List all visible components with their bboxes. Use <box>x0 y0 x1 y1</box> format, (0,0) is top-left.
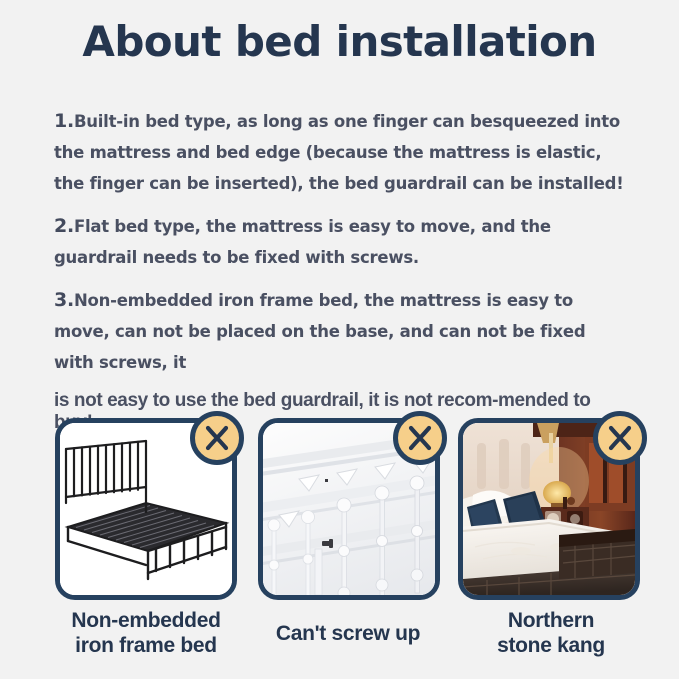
paragraph-2-text: Flat bed type, the mattress is easy to m… <box>54 217 551 267</box>
paragraph-1-text: Built-in bed type, as long as one finger… <box>54 112 624 193</box>
body-text-block: 1.Built-in bed type, as long as one fing… <box>54 106 630 434</box>
paragraph-3: 3.Non-embedded iron frame bed, the mattr… <box>54 285 630 378</box>
paragraph-3-number: 3. <box>54 289 74 311</box>
paragraph-3-text: Non-embedded iron frame bed, the mattres… <box>54 291 585 372</box>
page-title: About bed installation <box>0 18 679 65</box>
x-mark-glyph <box>398 416 442 460</box>
infographic-page: About bed installation 1.Built-in bed ty… <box>0 0 679 679</box>
caption-1-line-2: iron frame bed <box>41 633 251 658</box>
x-mark-icon <box>393 411 447 465</box>
x-mark-icon <box>593 411 647 465</box>
card-row <box>0 418 679 608</box>
x-mark-glyph <box>195 416 239 460</box>
card-cant-screw-up[interactable] <box>258 418 440 600</box>
paragraph-1: 1.Built-in bed type, as long as one fing… <box>54 106 630 199</box>
paragraph-2: 2.Flat bed type, the mattress is easy to… <box>54 211 630 273</box>
caption-non-embedded-iron-frame-bed: Non-embedded iron frame bed <box>41 608 251 658</box>
caption-cant-screw-up: Can't screw up <box>243 608 453 646</box>
paragraph-1-number: 1. <box>54 110 74 132</box>
caption-2-line-1: Can't screw up <box>243 621 453 646</box>
card-non-embedded-iron-frame-bed[interactable] <box>55 418 237 600</box>
caption-1-line-1: Non-embedded <box>41 608 251 633</box>
x-mark-icon <box>190 411 244 465</box>
caption-3-line-1: Northern <box>446 608 656 633</box>
paragraph-2-number: 2. <box>54 215 74 237</box>
card-northern-stone-kang[interactable] <box>458 418 640 600</box>
caption-northern-stone-kang: Northern stone kang <box>446 608 656 658</box>
caption-3-line-2: stone kang <box>446 633 656 658</box>
caption-row: Non-embedded iron frame bed Can't screw … <box>0 608 679 670</box>
x-mark-glyph <box>598 416 642 460</box>
